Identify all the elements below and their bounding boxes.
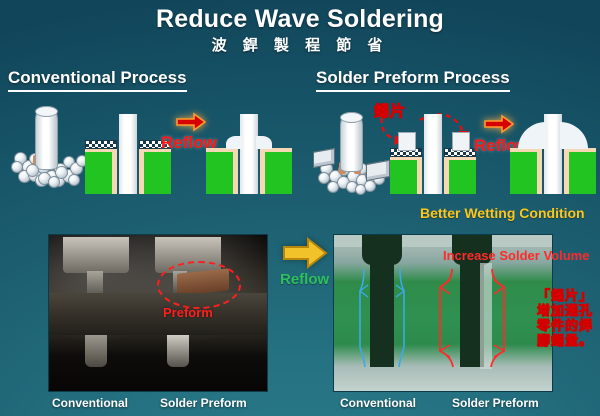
solder-paste-left [85,140,117,149]
solder-preform-block [366,160,390,181]
section-heading-preform: Solder Preform Process [316,68,510,92]
preform-photo-annotation: Preform [163,305,213,320]
solder-preform-process-diagram: 錫片 Reflow [306,100,600,200]
preform-highlight-ellipse [157,261,241,309]
increase-solder-volume-annotation: Increase Solder Volume [443,248,589,263]
solder-preform-block [452,132,470,151]
solder-preform-block [398,132,416,151]
section-heading-conventional: Conventional Process [8,68,187,92]
arrow-right-yellow-icon [282,236,328,270]
solder-fillet-right [560,122,588,149]
component-pin [340,112,363,172]
photo-left-caption-conventional: Conventional [52,396,128,410]
component-pin [119,114,137,194]
pcb-with-paste-stage [85,114,171,194]
component-pin [424,114,442,194]
section-heading-preform-label: Solder Preform Process [316,68,510,92]
reflowed-joint-full-stage [510,114,596,194]
page-subtitle: 波 銲 製 程 節 省 [0,36,600,56]
component-pin [35,106,58,170]
arrow-right-red-icon [176,112,206,132]
reflowed-joint-stage [206,114,292,194]
photo-right-caption-preform: Solder Preform [452,396,539,410]
solder-fillet-left [226,136,242,149]
solder-fillet-left [518,122,546,149]
pcb-with-preform-stage [390,118,476,194]
middle-reflow-label: Reflow [280,271,329,288]
solder-fillet-right [256,136,272,149]
page-title: Reduce Wave Soldering [0,4,600,34]
photo-left-caption-preform: Solder Preform [160,396,247,410]
section-heading-conventional-label: Conventional Process [8,68,187,92]
solder-ball-cluster-stage [8,100,88,195]
conventional-process-diagram: Reflow [0,100,300,200]
better-wetting-callout: Better Wetting Condition [420,205,585,221]
photo-right-caption-conventional: Conventional [340,396,416,410]
chinese-note: 「錫片」增加通孔零件的焊腳錫量。 [532,288,598,348]
conventional-vs-preform-photo [48,234,268,392]
slide-canvas: Reduce Wave Soldering 波 銲 製 程 節 省 Conven… [0,0,600,416]
